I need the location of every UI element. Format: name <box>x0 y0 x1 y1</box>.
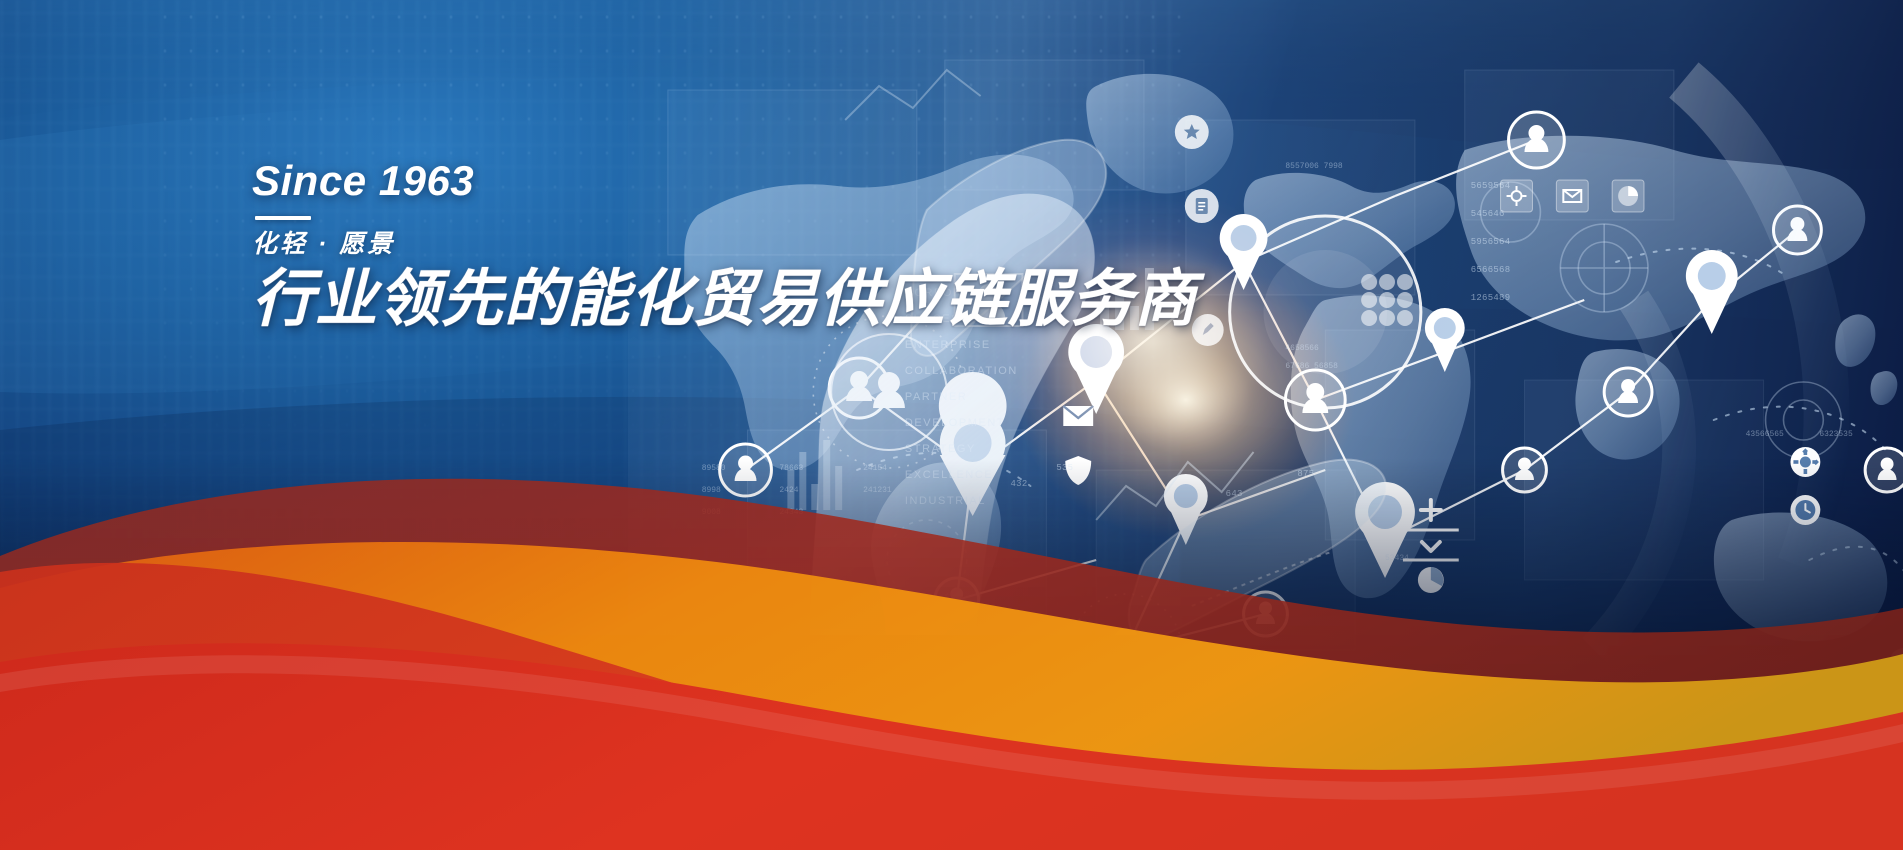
hero-copy-block: Since 1963 化轻 · 愿景 行业领先的能化贸易供应链服务商 <box>252 160 1012 332</box>
bottom-wave-group <box>0 430 1903 850</box>
divider-rule <box>255 216 311 220</box>
eyebrow-since: Since 1963 <box>252 160 1012 202</box>
subtitle-vision: 化轻 · 愿景 <box>252 232 1012 257</box>
page-title: 行业领先的能化贸易供应链服务商 <box>252 267 1012 332</box>
hero-banner: CORPORATE SUCCESS ENTERPRISE COLLABORATI… <box>0 0 1903 850</box>
wave-svg <box>0 430 1903 850</box>
